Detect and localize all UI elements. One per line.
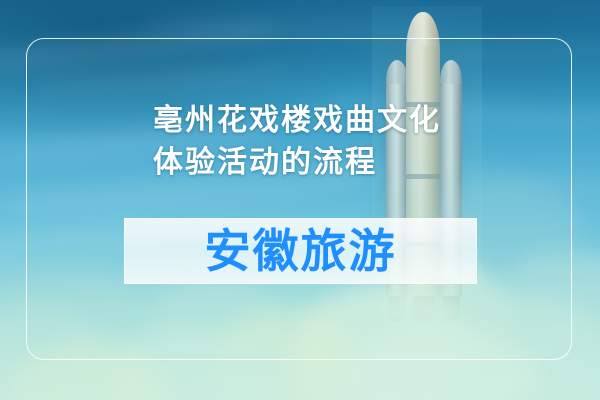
banner-title: 亳州花戏楼戏曲文化 体验活动的流程 [153,100,483,184]
subtitle-text: 安徽旅游 [205,228,397,274]
banner-title-line-1: 亳州花戏楼戏曲文化 [153,100,483,142]
promo-banner: 亳州花戏楼戏曲文化 体验活动的流程 安徽旅游 [0,0,600,400]
banner-title-line-2: 体验活动的流程 [153,142,483,184]
subtitle-bar: 安徽旅游 [124,218,477,284]
